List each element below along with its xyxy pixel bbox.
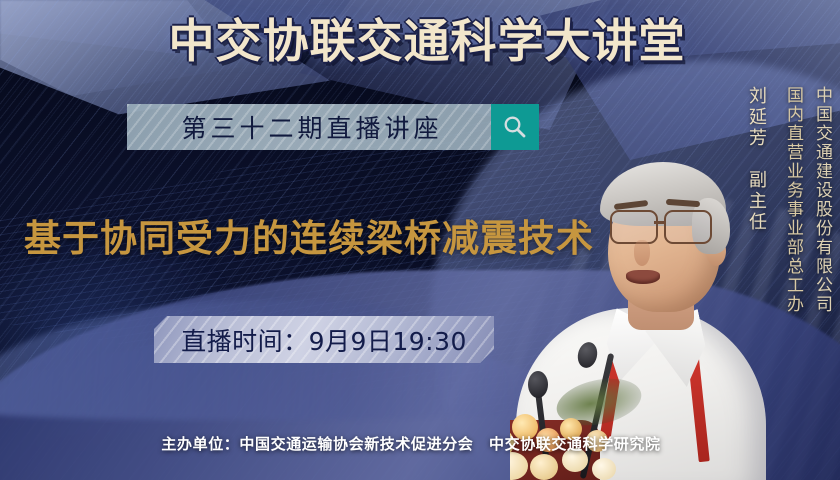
lecture-headline: 基于协同受力的连续梁桥减震技术 [24,208,594,262]
glasses-icon [610,210,722,242]
page-title: 中交协联交通科学大讲堂 [0,18,840,65]
speaker-nose [634,240,650,266]
live-time-banner: 直播时间：9月9日19:30 [154,316,494,363]
speaker-name-title: 刘延芳 副主任 [741,86,768,233]
live-stream-poster: 中交协联交通科学大讲堂 第三十二期直播讲座 基于协同受力的连续梁桥减震技术 直播… [0,0,840,480]
flower-bloom [510,452,528,480]
search-icon [502,114,528,140]
speaker-department: 国内直营业务事业部总工办 [776,86,803,314]
live-time-label: 直播时间：9月9日19:30 [181,322,467,358]
footer-organizers: 主办单位：中国交通运输协会新技术促进分会 中交协联交通科学研究院 [0,433,840,454]
speaker-info-vertical: 刘延芳 副主任 国内直营业务事业部总工办 中国交通建设股份有限公司 [741,86,832,314]
glasses-lens-left [610,210,658,244]
search-button[interactable] [491,104,539,150]
subtitle-label: 第三十二期直播讲座 [175,109,442,145]
speaker-company: 中国交通建设股份有限公司 [805,86,832,314]
flower-bloom [530,454,558,480]
flower-bloom [592,458,616,480]
subtitle-banner-fill: 第三十二期直播讲座 [127,104,491,150]
glasses-lens-right [664,210,712,244]
flower-arrangement [510,380,659,480]
subtitle-banner: 第三十二期直播讲座 [127,104,539,150]
organizer-label: 主办单位：中国交通运输协会新技术促进分会 中交协联交通科学研究院 [161,433,660,454]
speaker-mouth [626,270,660,284]
